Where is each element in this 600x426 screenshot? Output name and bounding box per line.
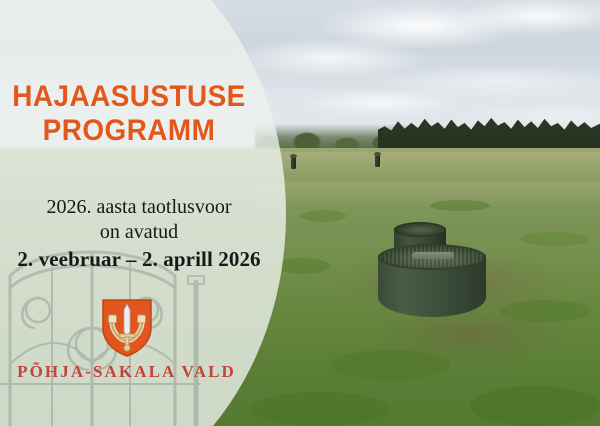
grass-tuft [330,350,450,380]
headline-line-1: HAJAASUSTUSE [9,80,249,114]
septic-tank-small-lid [394,222,446,237]
grass-tuft [500,300,590,322]
poster-graphic: HAJAASUSTUSE PROGRAMM 2026. aasta taotlu… [0,0,600,426]
grass-tuft [470,386,600,426]
vent-post-cap [374,152,381,156]
municipality-wordmark: PÕHJA-SAKALA VALD [0,362,253,382]
page-title: HAJAASUSTUSE PROGRAMM [9,80,249,148]
field-dry-patch-2 [255,182,600,208]
announcement-text: 2026. aasta taotlusvoor on avatud 2. vee… [0,195,278,272]
vent-post-cap [290,154,297,158]
septic-tank-lid-label [412,252,454,259]
grass-tuft [520,232,590,246]
coat-of-arms-shield [101,298,153,358]
subtext-line-1: 2026. aasta taotlusvoor [47,196,232,218]
application-period: 2. veebruar – 2. aprill 2026 [0,247,278,272]
grass-tuft [300,210,346,222]
field-dry-patch-1 [250,152,600,172]
headline-line-2: PROGRAMM [9,114,249,148]
grass-tuft [430,200,490,211]
subtext-line-2: on avatud [100,221,178,243]
municipality-logo: PÕHJA-SAKALA VALD [0,298,253,382]
